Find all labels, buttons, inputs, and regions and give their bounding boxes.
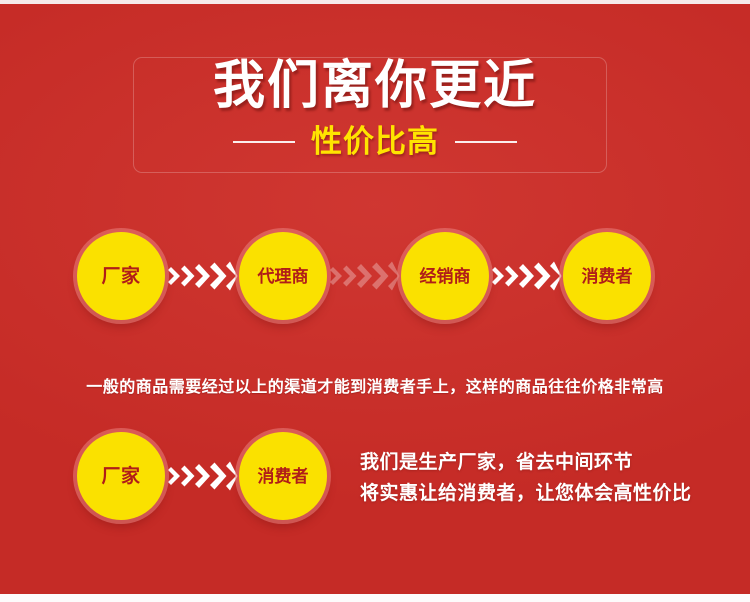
flow-node-label: 厂家 — [101, 267, 140, 286]
chevron-arrow-icon — [327, 259, 401, 293]
top-edge-strip — [0, 0, 750, 4]
promo-banner: 我们离你更近 性价比高 厂家 代理商 — [0, 0, 750, 602]
flow-node-label: 消费者 — [582, 268, 633, 285]
selling-point-copy: 我们是生产厂家，省去中间环节 将实惠让给消费者，让您体会高性价比 — [360, 447, 720, 509]
flow-node-agent: 代理商 — [239, 232, 327, 320]
flow-row-direct-channel: 厂家 消费者 — [77, 432, 327, 520]
rule-left-divider — [233, 141, 295, 143]
flow-node-label: 厂家 — [101, 467, 140, 486]
chevron-arrow-icon — [165, 259, 239, 293]
selling-point-line-2: 将实惠让给消费者，让您体会高性价比 — [360, 478, 720, 509]
flow-node-consumer-direct: 消费者 — [239, 432, 327, 520]
page-subtitle: 性价比高 — [311, 126, 439, 159]
flow-node-consumer: 消费者 — [563, 232, 651, 320]
bottom-edge-strip — [0, 594, 750, 602]
flow-node-label: 代理商 — [258, 268, 309, 285]
flow-node-manufacturer-direct: 厂家 — [77, 432, 165, 520]
rule-right-divider — [455, 141, 517, 143]
chevron-arrow-icon — [165, 459, 239, 493]
flow-node-label: 消费者 — [258, 468, 309, 485]
flow-node-manufacturer: 厂家 — [77, 232, 165, 320]
middle-caption: 一般的商品需要经过以上的渠道才能到消费者手上，这样的商品往往价格非常高 — [0, 373, 750, 397]
subtitle-row: 性价比高 — [0, 126, 750, 159]
chevron-arrow-icon — [489, 259, 563, 293]
flow-node-label: 经销商 — [420, 268, 471, 285]
flow-row-traditional-channel: 厂家 代理商 — [77, 232, 651, 320]
flow-node-distributor: 经销商 — [401, 232, 489, 320]
selling-point-line-1: 我们是生产厂家，省去中间环节 — [360, 447, 720, 478]
page-title: 我们离你更近 — [0, 60, 750, 112]
